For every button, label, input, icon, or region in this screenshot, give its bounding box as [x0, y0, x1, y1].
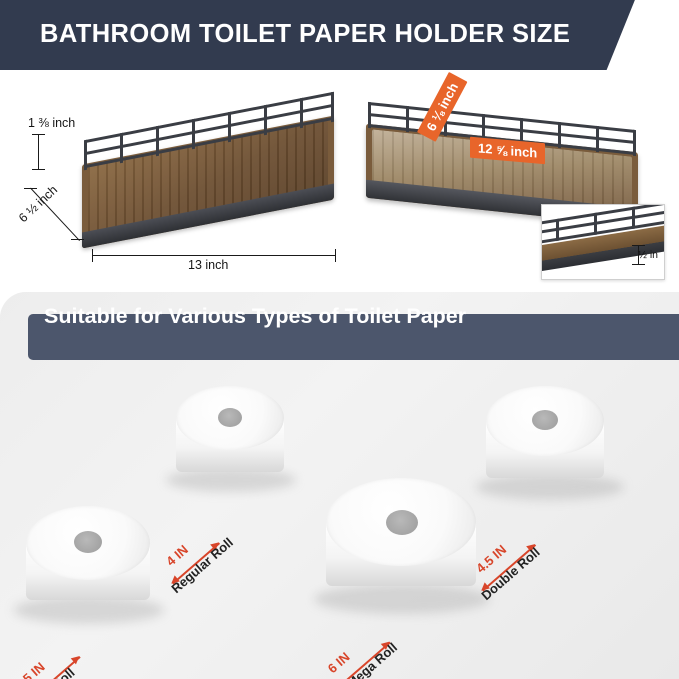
roll-mega — [18, 500, 168, 640]
roll-core-hole — [218, 408, 242, 427]
tray-left-illustration — [60, 108, 350, 248]
dim-label-width: 13 inch — [188, 258, 228, 272]
toilet-paper-compatibility-section: Suitable for Various Types of Toilet Pap… — [0, 292, 679, 679]
top-banner: BATHROOM TOILET PAPER HOLDER SIZE — [0, 0, 679, 70]
dim-tick-width-left — [92, 249, 93, 262]
top-banner-title: BATHROOM TOILET PAPER HOLDER SIZE — [40, 20, 570, 49]
dimension-diagram-section: 1 ⅜ inch 6 ½ inch 13 inch 6 ⅛ inch — [0, 70, 679, 292]
dim-arrow-width — [92, 255, 336, 256]
dim-tick-depth-bottom — [71, 239, 84, 240]
roll-shadow — [14, 596, 164, 624]
roll-shadow — [314, 584, 490, 614]
dim-tick-depth-top — [24, 188, 37, 189]
sub-banner-title: Suitable for Various Types of Toilet Pap… — [44, 304, 466, 329]
banner-corner-notch — [601, 0, 679, 70]
inset-thickness-label: ½ in — [638, 249, 658, 261]
dim-tick-width-right — [335, 249, 336, 262]
dim-tick-height-bottom — [32, 169, 45, 170]
roll-double — [478, 380, 628, 516]
inset-tick-bottom — [632, 264, 645, 265]
roll-core-hole — [74, 531, 102, 553]
dim-tick-height-top — [32, 134, 45, 135]
dim-label-depth: 6 ½ inch — [16, 183, 60, 225]
dim-label-height: 1 ⅜ inch — [28, 116, 75, 130]
roll-super-mega — [318, 472, 494, 632]
dim-arrow-height — [38, 134, 39, 170]
roll-core-hole — [532, 410, 558, 430]
roll-core-hole — [386, 510, 418, 535]
thickness-detail-inset: ½ in — [541, 204, 665, 280]
roll-regular — [168, 380, 298, 508]
inset-tick-top — [632, 245, 645, 246]
